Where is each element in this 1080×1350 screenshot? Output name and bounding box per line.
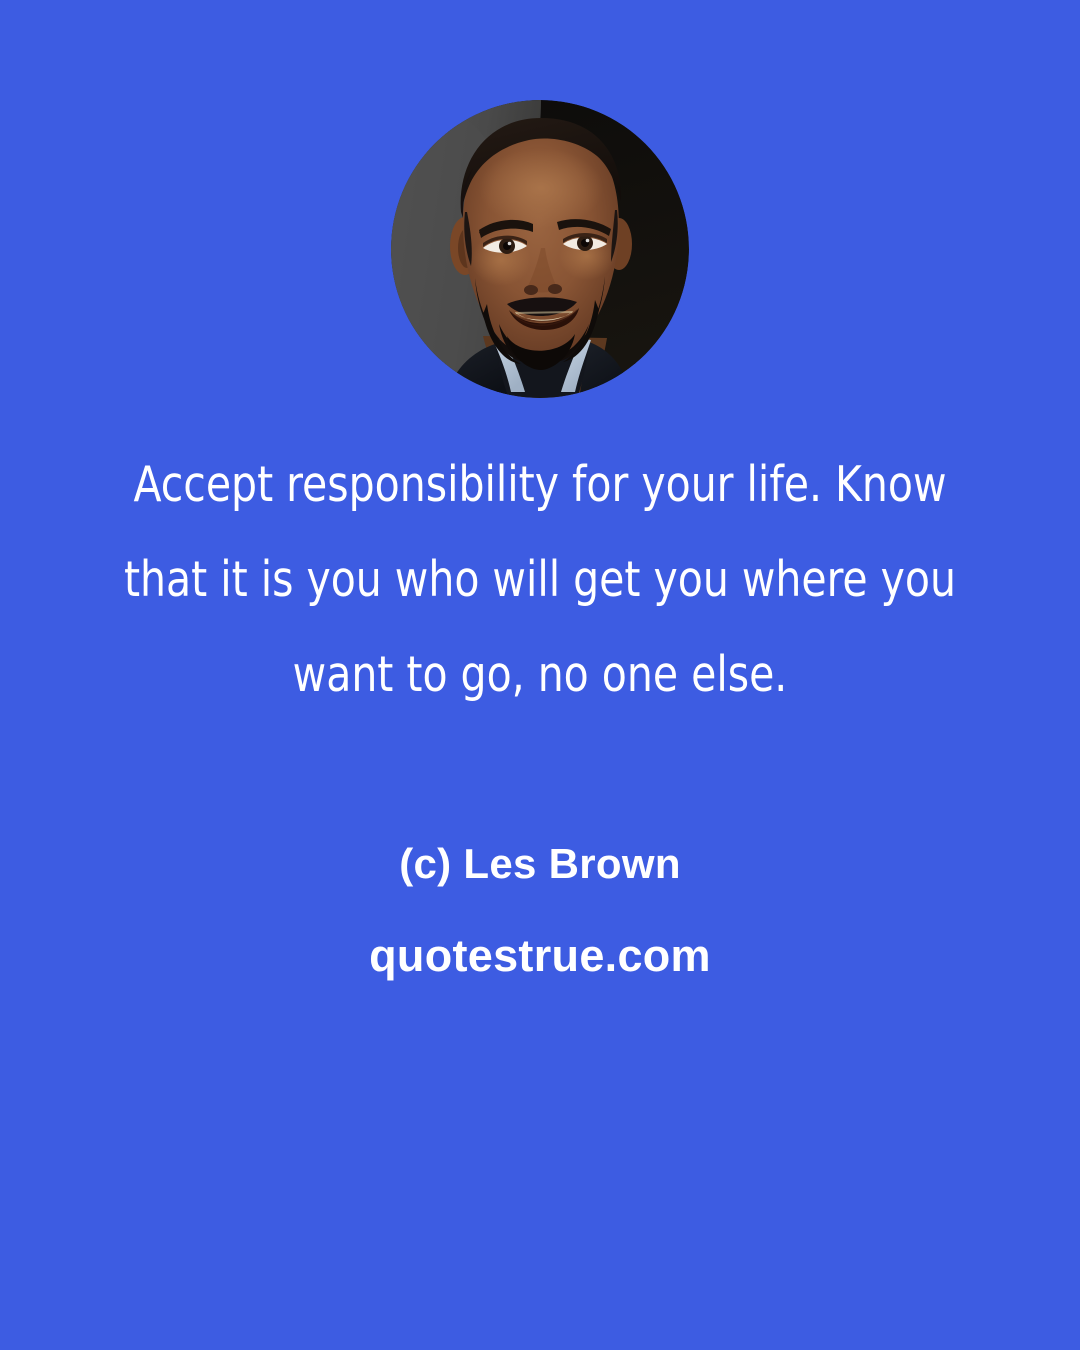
website-label: quotestrue.com — [0, 925, 1080, 987]
quote-card: Accept responsibility for your life. Kno… — [0, 0, 1080, 1350]
quote-attribution: (c) Les Brown — [0, 836, 1080, 892]
portrait-photo-icon — [391, 100, 689, 398]
quote-text: Accept responsibility for your life. Kno… — [38, 437, 1042, 722]
avatar — [391, 100, 689, 398]
